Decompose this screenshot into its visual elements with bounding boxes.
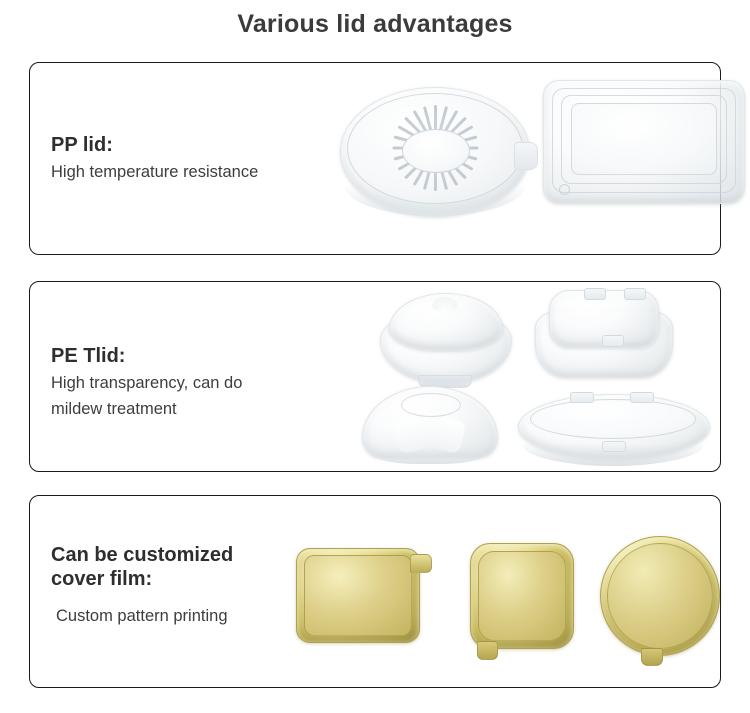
square-gold-cover-film-panel [478,551,566,641]
rectangular-pp-lid-panel [571,103,717,175]
square-pe-lid-top [549,290,659,348]
rectangular-gold-cover-film-panel [304,555,412,636]
card-pp-lid: PP lid: High temperature resistance [29,62,721,255]
round-pp-lid-center [402,129,470,173]
card-pe-subtext: High transparency, can do mildew treatme… [51,370,242,422]
card-pp-subtext: High temperature resistance [51,159,258,185]
card-cover-film: Can be customized cover film: Custom pat… [29,495,721,688]
oval-pe-lid-panel [530,399,696,439]
heart-pe-lid-cleft [432,297,458,313]
card-cover-film-text-block: Can be customized cover film: Custom pat… [51,543,233,629]
dome-pe-lid-image [362,386,496,464]
card-pe-text-block: PE Tlid: High transparency, can do milde… [51,344,242,422]
oval-pe-lid-notch-left [570,392,594,403]
dome-pe-lid-cap [362,386,498,458]
rectangular-gold-cover-film-tab [410,554,432,573]
card-pp-text-block: PP lid: High temperature resistance [51,133,258,185]
oval-pe-lid-notch-front [602,441,626,452]
card-pe-lid: PE Tlid: High transparency, can do milde… [29,281,721,472]
rectangular-pp-lid-image [543,80,745,204]
card-cover-film-heading: Can be customized cover film: [51,543,233,591]
square-pe-lid-notch-front [602,335,624,347]
card-cover-film-image-area [320,496,720,687]
rectangular-gold-cover-film-image [296,548,420,643]
oval-pe-lid-image [518,394,708,466]
square-gold-cover-film-tab [477,641,498,660]
square-pe-lid-notch-right [624,288,646,300]
square-pe-lid-notch-left [584,288,606,300]
dome-pe-lid-skirt [370,452,488,464]
square-pe-lid-image [535,290,671,382]
heart-pe-lid-image [380,293,510,385]
page-title: Various lid advantages [0,10,750,39]
round-pp-lid-image [340,87,530,217]
card-pe-image-area [320,282,720,471]
card-cover-film-subtext: Custom pattern printing [51,603,233,629]
rectangular-pp-lid-vent [559,184,570,195]
square-gold-cover-film-image [470,543,574,649]
dome-pe-lid-top-circle [401,393,461,417]
card-pe-heading: PE Tlid: [51,344,242,368]
dome-pe-lid-highlight-left [393,416,429,454]
card-pp-image-area [320,63,720,254]
oval-pe-lid-notch-right [630,392,654,403]
round-gold-cover-film-panel [607,543,713,649]
round-gold-cover-film-tab [641,648,663,666]
round-gold-cover-film-image [600,536,720,656]
card-pp-heading: PP lid: [51,133,258,157]
dome-pe-lid-highlight-right [430,416,466,454]
round-pp-lid-tab [514,142,538,170]
